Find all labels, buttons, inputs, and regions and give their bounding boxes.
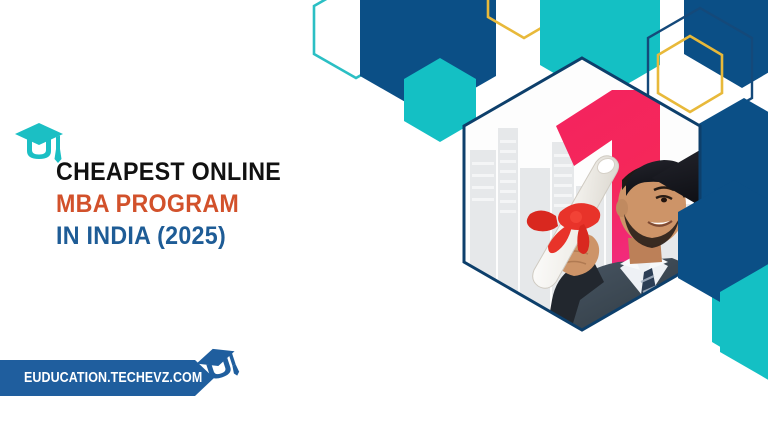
graduation-cap-icon: [196, 345, 240, 385]
website-url-text: EUDUCATION.TECHEVZ.COM: [24, 370, 202, 386]
promo-banner: CHEAPEST ONLINE MBA PROGRAM IN INDIA (20…: [0, 0, 768, 432]
headline-block: CHEAPEST ONLINE MBA PROGRAM IN INDIA (20…: [56, 160, 298, 256]
headline-line-2: MBA PROGRAM: [56, 192, 281, 217]
headline-line-3: IN INDIA (2025): [56, 224, 281, 249]
photo-content: [460, 50, 748, 340]
headline-line-1: CHEAPEST ONLINE: [56, 160, 281, 185]
website-url-ribbon[interactable]: EUDUCATION.TECHEVZ.COM: [0, 360, 214, 396]
